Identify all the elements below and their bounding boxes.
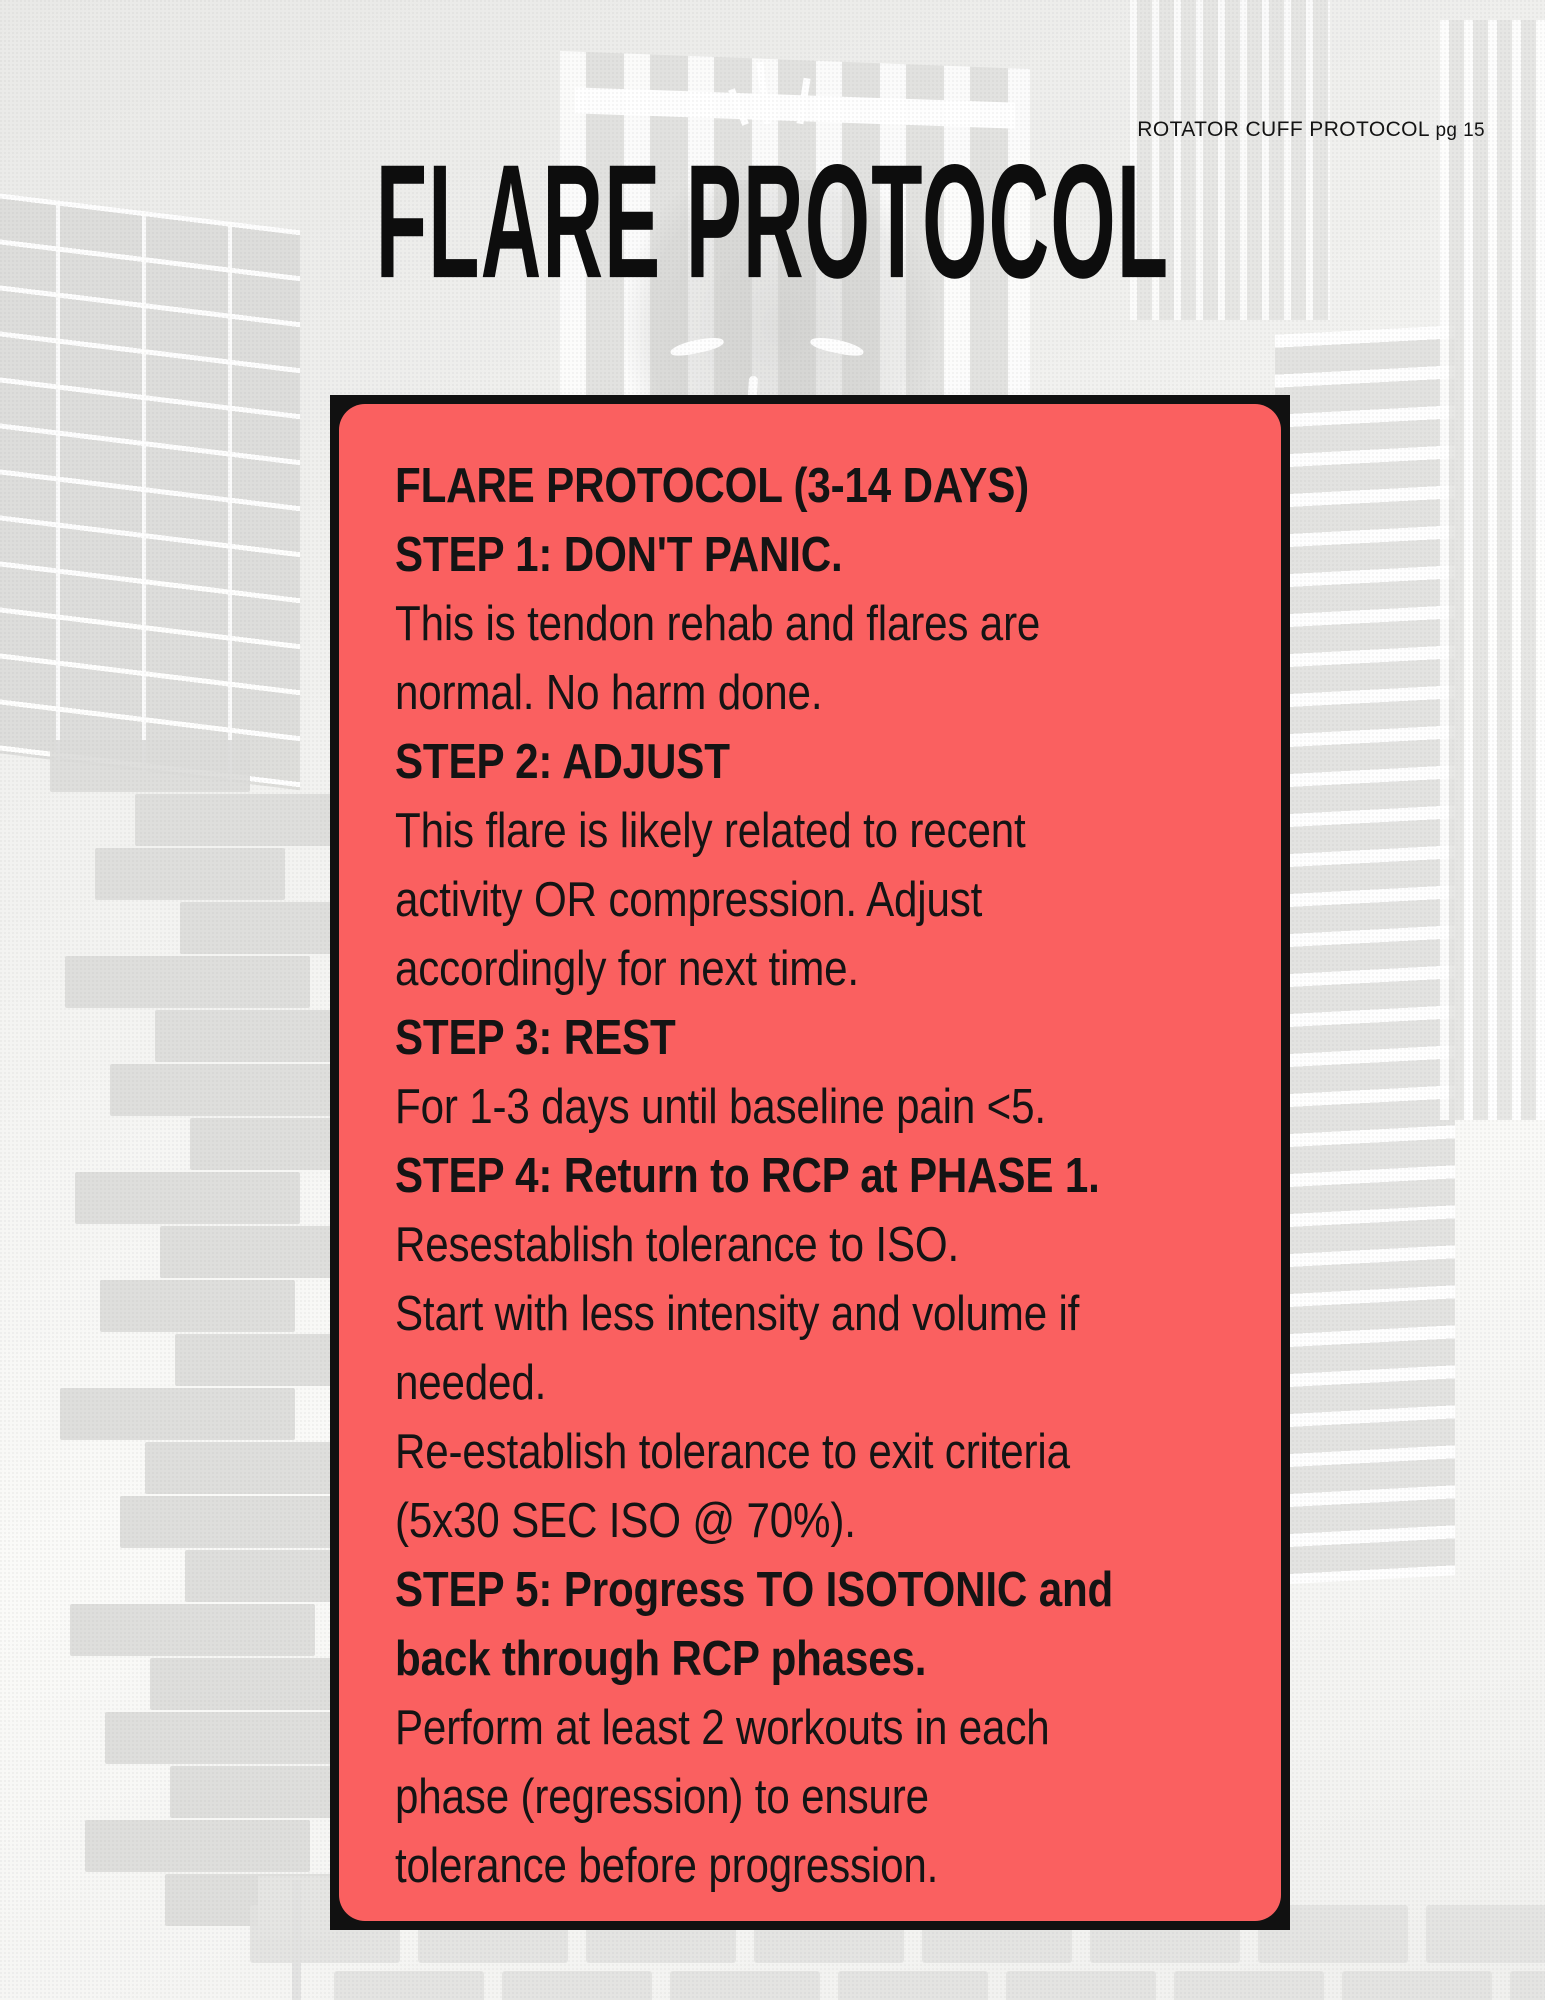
background-building-right	[1275, 325, 1455, 1584]
protocol-step-heading: STEP 5: Progress TO ISOTONIC and	[395, 1556, 1157, 1625]
protocol-body-line: Start with less intensity and volume if	[395, 1280, 1157, 1349]
page-title: FLARE PROTOCOL	[340, 140, 1205, 302]
protocol-step-heading: STEP 4: Return to RCP at PHASE 1.	[395, 1142, 1157, 1211]
flare-protocol-card-body: FLARE PROTOCOL (3-14 DAYS)STEP 1: DON'T …	[339, 404, 1281, 1921]
protocol-body-line: Re-establish tolerance to exit criteria	[395, 1418, 1157, 1487]
background-brick	[95, 848, 285, 900]
background-brick	[85, 1820, 310, 1872]
protocol-body-line: This is tendon rehab and flares are	[395, 590, 1157, 659]
protocol-step-heading: FLARE PROTOCOL (3-14 DAYS)	[395, 452, 1157, 521]
background-brick	[100, 1280, 295, 1332]
background-plaza-brick	[1006, 1971, 1156, 2000]
background-brick	[60, 1388, 295, 1440]
background-building-left	[0, 190, 300, 791]
background-plaza-brick	[670, 1971, 820, 2000]
document-page: ROTATOR CUFF PROTOCOL pg 15 FLARE PROTOC…	[0, 0, 1545, 2000]
protocol-body-line: This flare is likely related to recent	[395, 797, 1157, 866]
background-brick	[145, 1442, 335, 1494]
protocol-body-line: Resestablish tolerance to ISO.	[395, 1211, 1157, 1280]
background-plaza-brick	[1426, 1905, 1545, 1963]
page-header: ROTATOR CUFF PROTOCOL pg 15	[1137, 118, 1485, 142]
background-plaza-brick	[334, 1971, 484, 2000]
background-pole	[292, 1880, 301, 2000]
header-protocol-title: ROTATOR CUFF PROTOCOL	[1137, 118, 1429, 141]
protocol-body-line: accordingly for next time.	[395, 935, 1157, 1004]
protocol-body-line: needed.	[395, 1349, 1157, 1418]
figure-eye-icon	[669, 335, 725, 359]
background-plaza-brick	[838, 1971, 988, 2000]
protocol-step-heading: back through RCP phases.	[395, 1625, 1157, 1694]
background-brick-column	[40, 740, 340, 1920]
header-page-number: pg 15	[1435, 120, 1485, 141]
protocol-body-line: normal. No harm done.	[395, 659, 1157, 728]
protocol-step-heading: STEP 1: DON'T PANIC.	[395, 521, 1157, 590]
protocol-step-heading: STEP 3: REST	[395, 1004, 1157, 1073]
background-plaza-brick	[1342, 1971, 1492, 2000]
background-brick	[50, 740, 250, 792]
background-brick	[110, 1064, 340, 1116]
protocol-body-line: activity OR compression. Adjust	[395, 866, 1157, 935]
figure-eye-icon	[809, 335, 865, 359]
background-plaza-brick	[1510, 1971, 1545, 2000]
protocol-body-line: For 1-3 days until baseline pain <5.	[395, 1073, 1157, 1142]
background-brick	[65, 956, 310, 1008]
protocol-body-line: phase (regression) to ensure	[395, 1763, 1157, 1832]
protocol-step-heading: STEP 2: ADJUST	[395, 728, 1157, 797]
protocol-body-line: Perform at least 2 workouts in each	[395, 1694, 1157, 1763]
background-brick	[120, 1496, 340, 1548]
background-brick	[75, 1172, 300, 1224]
protocol-body-line: (5x30 SEC ISO @ 70%).	[395, 1487, 1157, 1556]
protocol-body-line: tolerance before progression.	[395, 1832, 1157, 1901]
background-brick	[70, 1604, 315, 1656]
background-plaza-brick	[502, 1971, 652, 2000]
background-plaza-brick	[1174, 1971, 1324, 2000]
background-brick	[105, 1712, 340, 1764]
background-building-far-right	[1440, 20, 1545, 1120]
flare-protocol-card: FLARE PROTOCOL (3-14 DAYS)STEP 1: DON'T …	[330, 395, 1290, 1930]
